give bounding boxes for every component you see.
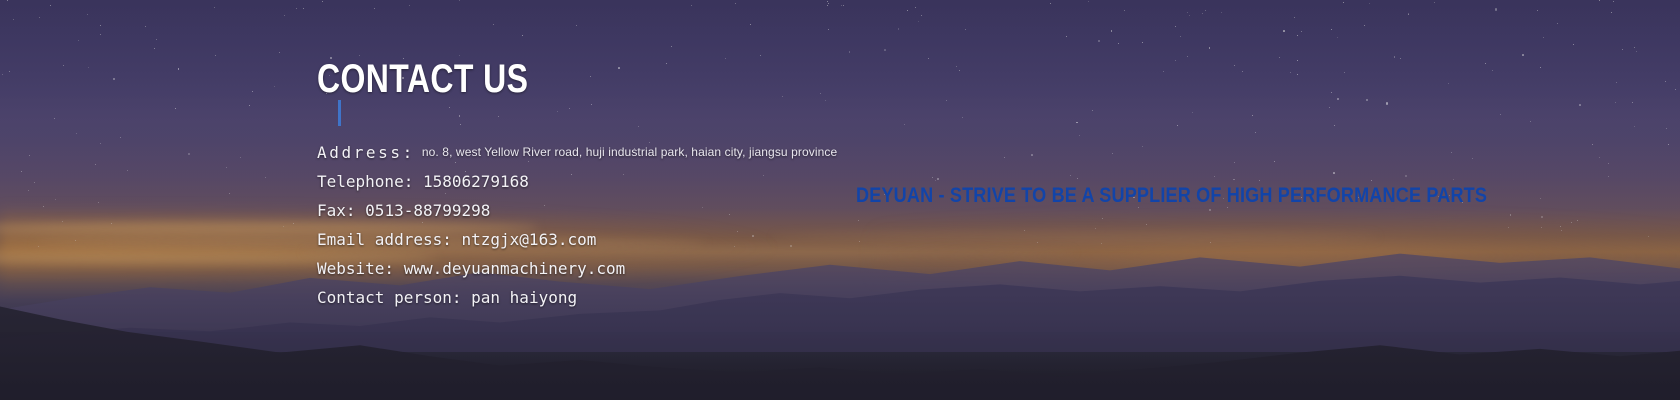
contact-person-label: Contact person: [317, 288, 462, 307]
email-label: Email address: [317, 230, 452, 249]
contact-row-address: Address:no. 8, west Yellow River road, h… [317, 142, 1177, 171]
page-title: CONTACT US [317, 57, 528, 101]
fax-label: Fax: [317, 201, 356, 220]
email-value[interactable]: ntzgjx@163.com [462, 230, 597, 249]
contact-person-value: pan haiyong [471, 288, 577, 307]
contact-row-website: Website: www.deyuanmachinery.com [317, 258, 1177, 287]
contact-row-email: Email address: ntzgjx@163.com [317, 229, 1177, 258]
contact-details-list: Address:no. 8, west Yellow River road, h… [317, 142, 1177, 316]
website-value[interactable]: www.deyuanmachinery.com [404, 259, 626, 278]
address-label: Address: [317, 143, 415, 162]
title-accent-bar [338, 100, 341, 126]
website-label: Website: [317, 259, 394, 278]
contact-banner: CONTACT US Address:no. 8, west Yellow Ri… [0, 0, 1680, 400]
telephone-label: Telephone: [317, 172, 413, 191]
fax-value: 0513-88799298 [365, 201, 490, 220]
address-value: no. 8, west Yellow River road, huji indu… [415, 145, 837, 159]
contact-row-person: Contact person: pan haiyong [317, 287, 1177, 316]
telephone-value[interactable]: 15806279168 [423, 172, 529, 191]
company-tagline: DEYUAN - STRIVE TO BE A SUPPLIER OF HIGH… [856, 183, 1487, 208]
